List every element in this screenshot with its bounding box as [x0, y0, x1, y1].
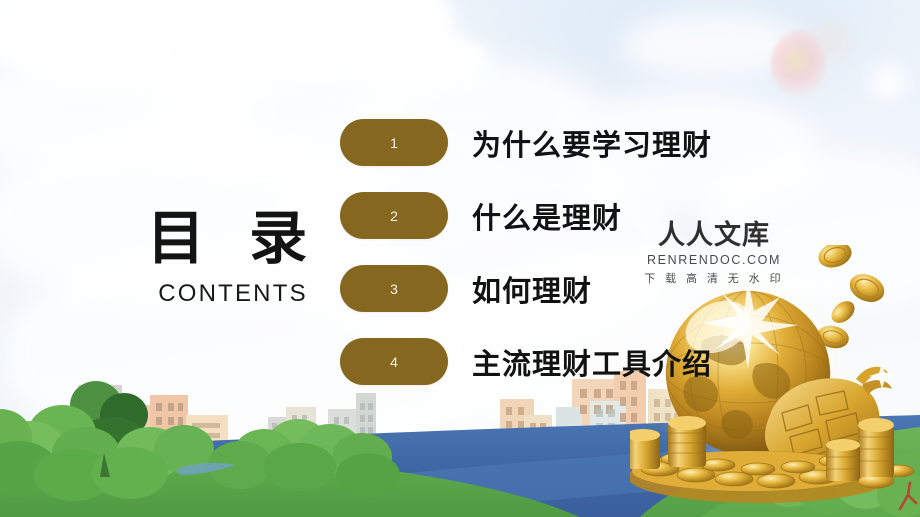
- title-chinese: 目 录: [118, 208, 348, 268]
- toc-number-pill[interactable]: 2: [340, 192, 448, 239]
- toc-number-pill[interactable]: 3: [340, 265, 448, 312]
- list-item[interactable]: 4 主流理财工具介绍: [340, 338, 712, 385]
- toc-label[interactable]: 什么是理财: [472, 195, 622, 237]
- toc-label[interactable]: 主流理财工具介绍: [472, 341, 712, 383]
- title-english: CONTENTS: [118, 280, 348, 308]
- toc-label[interactable]: 如何理财: [472, 268, 592, 310]
- list-item[interactable]: 2 什么是理财: [340, 192, 712, 239]
- contents-list: 1 为什么要学习理财 2 什么是理财 3 如何理财 4 主流理财工具介绍: [340, 119, 712, 385]
- toc-number: 1: [390, 136, 398, 150]
- toc-number-pill[interactable]: 4: [340, 338, 448, 385]
- list-item[interactable]: 3 如何理财: [340, 265, 712, 312]
- page-title: 目 录 CONTENTS: [118, 208, 348, 308]
- slide-canvas: 目 录 CONTENTS 1 为什么要学习理财 2 什么是理财 3 如何理财 4: [0, 0, 920, 517]
- toc-number: 4: [390, 355, 398, 369]
- list-item[interactable]: 1 为什么要学习理财: [340, 119, 712, 166]
- toc-number: 2: [390, 209, 398, 223]
- toc-label[interactable]: 为什么要学习理财: [472, 122, 712, 164]
- toc-number: 3: [390, 282, 398, 296]
- snowflake-icon: [856, 50, 920, 114]
- toc-number-pill[interactable]: 1: [340, 119, 448, 166]
